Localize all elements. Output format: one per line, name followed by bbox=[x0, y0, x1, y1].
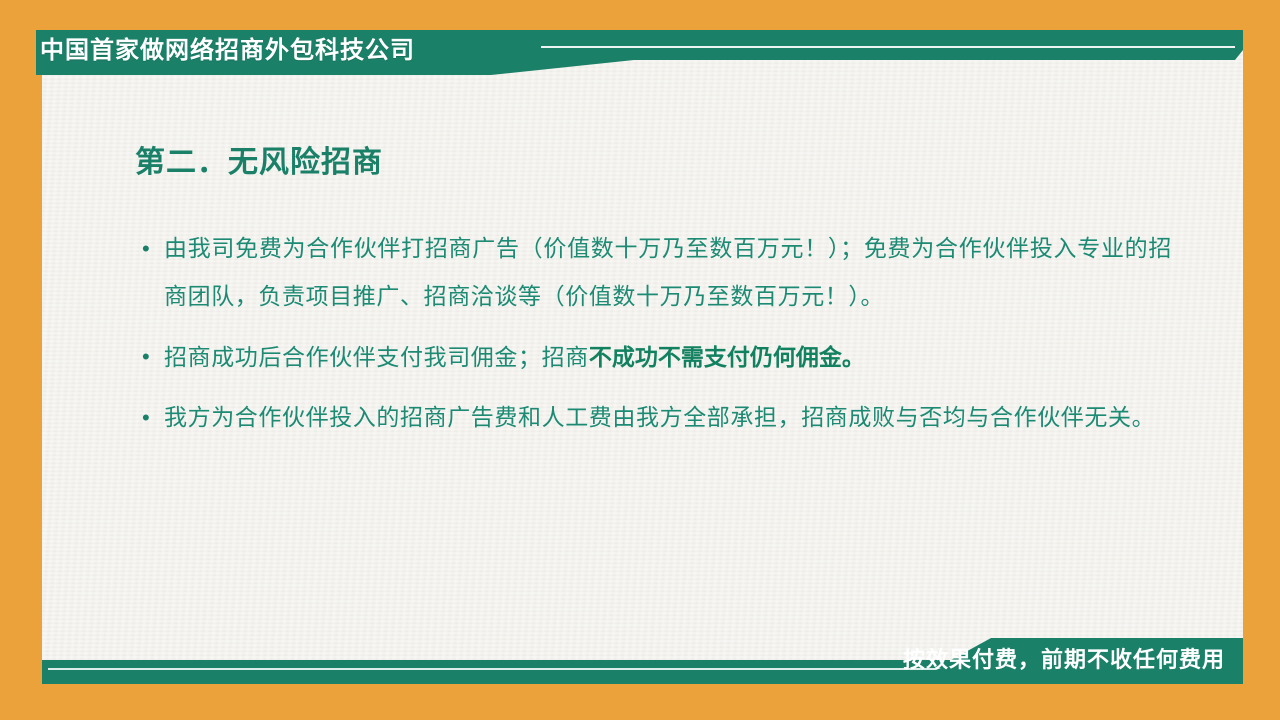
bullet-plain-text: 招商成功后合作伙伴支付我司佣金；招商 bbox=[164, 345, 589, 370]
bullet-marker-icon: • bbox=[142, 394, 164, 442]
company-slogan-header: 中国首家做网络招商外包科技公司 bbox=[40, 36, 415, 66]
bullet-plain-text: 我方为合作伙伴投入的招商广告费和人工费由我方全部承担，招商成败与否均与合作伙伴无… bbox=[164, 405, 1155, 430]
bullet-text: 我方为合作伙伴投入的招商广告费和人工费由我方全部承担，招商成败与否均与合作伙伴无… bbox=[164, 394, 1172, 442]
bullet-item: •招商成功后合作伙伴支付我司佣金；招商不成功不需支付仍何佣金。 bbox=[142, 333, 1172, 382]
bullet-item: •由我司免费为合作伙伴打招商广告（价值数十万乃至数百万元！）；免费为合作伙伴投入… bbox=[142, 225, 1172, 321]
bullet-emphasis-text: 不成功不需支付仍何佣金。 bbox=[589, 344, 865, 370]
bullet-plain-text: 由我司免费为合作伙伴打招商广告（价值数十万乃至数百万元！）；免费为合作伙伴投入专… bbox=[164, 236, 1172, 309]
slide-canvas: 中国首家做网络招商外包科技公司 第二．无风险招商 •由我司免费为合作伙伴打招商广… bbox=[0, 0, 1280, 720]
bullet-marker-icon: • bbox=[142, 333, 164, 381]
bullet-item: •我方为合作伙伴投入的招商广告费和人工费由我方全部承担，招商成败与否均与合作伙伴… bbox=[142, 394, 1172, 442]
footer-tagline: 按效果付费，前期不收任何费用 bbox=[903, 645, 1225, 675]
page-title: 第二．无风险招商 bbox=[135, 137, 383, 181]
slide-content: 第二．无风险招商 •由我司免费为合作伙伴打招商广告（价值数十万乃至数百万元！）；… bbox=[42, 75, 1243, 635]
bullet-text: 由我司免费为合作伙伴打招商广告（价值数十万乃至数百万元！）；免费为合作伙伴投入专… bbox=[164, 225, 1172, 321]
bullet-list: •由我司免费为合作伙伴打招商广告（价值数十万乃至数百万元！）；免费为合作伙伴投入… bbox=[142, 225, 1172, 454]
bullet-text: 招商成功后合作伙伴支付我司佣金；招商不成功不需支付仍何佣金。 bbox=[164, 333, 1172, 382]
bullet-marker-icon: • bbox=[142, 225, 164, 273]
